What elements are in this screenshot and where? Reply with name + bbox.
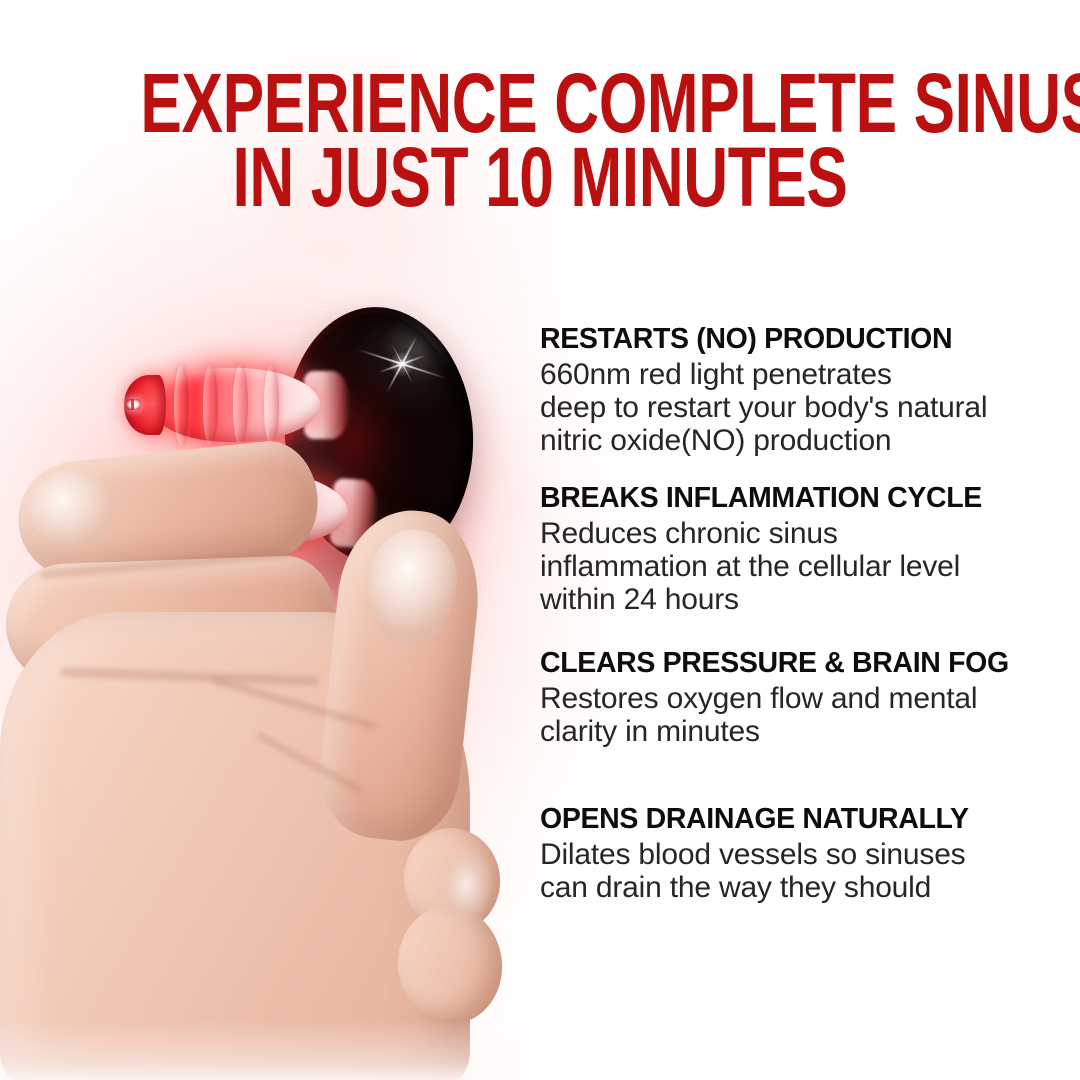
benefit-item-1: RESTARTS (NO) PRODUCTION 660nm red light… [540,322,1052,457]
device-nasal-prong-upper [150,368,320,442]
benefits-list: RESTARTS (NO) PRODUCTION 660nm red light… [540,322,1052,904]
headline-line-2: IN JUST 10 MINUTES [140,140,939,214]
device-specular-sparkle-icon [356,318,448,410]
headline: EXPERIENCE COMPLETE SINUS RELIEF IN JUST… [0,66,1080,214]
benefit-item-2: BREAKS INFLAMMATION CYCLE Reduces chroni… [540,481,1052,616]
benefit-body-2: Reduces chronic sinus inflammation at th… [540,517,1052,616]
benefit-item-3: CLEARS PRESSURE & BRAIN FOG Restores oxy… [540,646,1052,748]
benefit-title-3: CLEARS PRESSURE & BRAIN FOG [540,646,1052,680]
benefit-body-1: 660nm red light penetrates deep to resta… [540,358,1052,457]
benefit-item-4: OPENS DRAINAGE NATURALLY Dilates blood v… [540,802,1052,904]
hand-knuckle-nail [438,846,494,924]
prong-tip-upper [124,375,166,434]
headline-line-1: EXPERIENCE COMPLETE SINUS RELIEF [140,66,939,140]
benefit-body-3: Restores oxygen flow and mental clarity … [540,682,1052,748]
benefit-title-1: RESTARTS (NO) PRODUCTION [540,322,1052,356]
prong-body-upper [150,368,320,442]
prong-led-upper [126,399,141,410]
benefit-title-4: OPENS DRAINAGE NATURALLY [540,802,1052,836]
promo-graphic: EXPERIENCE COMPLETE SINUS RELIEF IN JUST… [0,0,1080,1080]
benefit-body-4: Dilates blood vessels so sinuses can dra… [540,838,1052,904]
hand-bottom-fade [0,1020,520,1080]
benefit-title-2: BREAKS INFLAMMATION CYCLE [540,481,1052,515]
